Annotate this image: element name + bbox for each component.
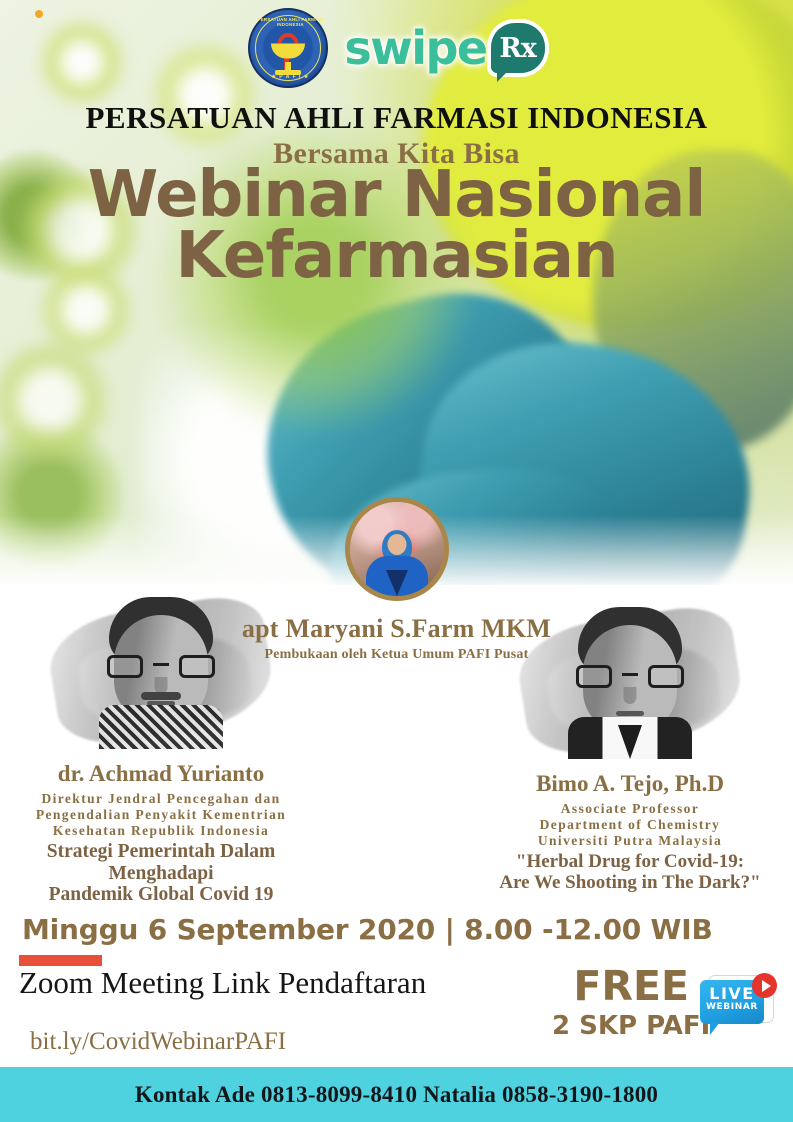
topic-line-1: Strategi Pemerintah Dalam Menghadapi <box>0 841 326 885</box>
portrait-nose <box>624 687 637 704</box>
center-speaker-name: apt Maryani S.Farm MKM <box>0 614 793 644</box>
speaker-left-topic: Strategi Pemerintah Dalam Menghadapi Pan… <box>0 841 326 906</box>
contact-text: Kontak Ade 0813-8099-8410 Natalia 0858-3… <box>135 1082 658 1108</box>
logo-row: PERSATUAN AHLI FARMASI INDONESIA ★ P A F… <box>0 6 793 90</box>
price-label: FREE <box>552 966 710 1007</box>
portrait-moustache <box>141 692 181 700</box>
organization-name: PERSATUAN AHLI FARMASI INDONESIA <box>0 100 793 136</box>
badge-webinar-text: WEBINAR <box>700 1002 764 1012</box>
portrait-glasses-left <box>576 665 612 688</box>
portrait-glasses-bridge <box>153 663 169 666</box>
play-button-icon <box>752 973 777 998</box>
swipe-wordmark: swipe <box>344 21 486 75</box>
rx-speech-bubble-icon: Rx <box>491 23 545 73</box>
registration-link[interactable]: bit.ly/CovidWebinarPAFI <box>30 1028 286 1056</box>
speaker-right-affiliation: Associate Professor Department of Chemis… <box>465 801 793 849</box>
portrait-glasses-right <box>648 665 684 688</box>
credits-label: 2 SKP PAFI <box>552 1011 710 1041</box>
footer-contact-bar: Kontak Ade 0813-8099-8410 Natalia 0858-3… <box>0 1067 793 1122</box>
pafi-logo-bottom-text: ★ P A F I ★ <box>250 74 330 80</box>
affiliation-line-3: Kesehatan Republik Indonesia <box>0 823 326 839</box>
avatar-face <box>387 534 406 555</box>
portrait-tie <box>618 725 642 759</box>
affiliation-line-2: Pengendalian Penyakit Kementrian <box>0 807 326 823</box>
rx-label: Rx <box>499 33 536 64</box>
speaker-left-name: dr. Achmad Yurianto <box>0 761 326 787</box>
pafi-logo-icon: PERSATUAN AHLI FARMASI INDONESIA ★ P A F… <box>248 8 328 88</box>
portrait-batik-shirt <box>99 705 223 749</box>
portrait-mouth <box>616 711 644 716</box>
event-date-time: Minggu 6 September 2020 | 8.00 -12.00 WI… <box>22 913 713 946</box>
speaker-right-name: Bimo A. Tejo, Ph.D <box>465 771 793 797</box>
live-webinar-badge-icon: LIVE WEBINAR <box>700 973 778 1039</box>
swipe-orange-dot-icon <box>35 10 43 18</box>
avatar <box>345 497 449 601</box>
speaker-left-affiliation: Direktur Jendral Pencegahan dan Pengenda… <box>0 791 326 839</box>
price-block: FREE 2 SKP PAFI <box>552 966 710 1041</box>
affiliation-line-2: Department of Chemistry <box>465 817 793 833</box>
center-speaker: apt Maryani S.Farm MKM Pembukaan oleh Ke… <box>0 497 793 663</box>
page-title: Webinar Nasional Kefarmasian <box>0 165 793 288</box>
badge-bubble-tail <box>710 1022 720 1035</box>
affiliation-line-3: Universiti Putra Malaysia <box>465 833 793 849</box>
webinar-poster: PERSATUAN AHLI FARMASI INDONESIA ★ P A F… <box>0 0 793 1122</box>
title-line-2: Kefarmasian <box>0 226 793 287</box>
center-speaker-role: Pembukaan oleh Ketua Umum PAFI Pusat <box>0 647 793 663</box>
avatar-collar <box>386 570 408 596</box>
affiliation-line-1: Associate Professor <box>465 801 793 817</box>
affiliation-line-1: Direktur Jendral Pencegahan dan <box>0 791 326 807</box>
portrait-glasses-bridge <box>622 673 638 676</box>
topic-line-2: Pandemik Global Covid 19 <box>0 884 326 906</box>
topic-line-1: "Herbal Drug for Covid-19: <box>465 851 793 872</box>
pafi-logo-top-text: PERSATUAN AHLI FARMASI INDONESIA <box>250 17 330 27</box>
swiperx-logo: swipe Rx <box>344 21 544 75</box>
speaker-right-topic: "Herbal Drug for Covid-19: Are We Shooti… <box>465 851 793 894</box>
registration-label: Zoom Meeting Link Pendaftaran <box>19 965 426 1001</box>
topic-line-2: Are We Shooting in The Dark?" <box>465 872 793 893</box>
